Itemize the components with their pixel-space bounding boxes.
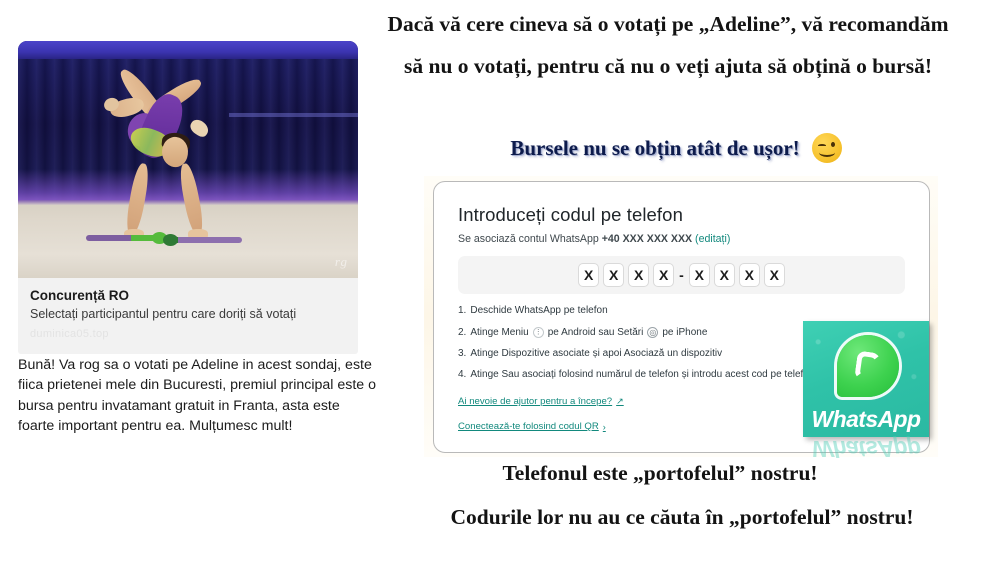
code-digit-box[interactable]: X bbox=[714, 263, 735, 287]
connect-qr-label: Conectează-te folosind codul QR bbox=[458, 421, 599, 432]
step-text: Atinge Meniu bbox=[470, 328, 528, 338]
pairing-code-field[interactable]: X X X X - X X X X bbox=[458, 256, 905, 294]
whatsapp-icon bbox=[837, 335, 899, 397]
step-text: Atinge Dispozitive asociate și apoi Asoc… bbox=[470, 349, 722, 359]
step-number: 1. bbox=[458, 306, 466, 316]
menu-dots-icon: ⋮ bbox=[533, 327, 544, 338]
gymnast-arm-left bbox=[124, 162, 151, 236]
step-text-after: pe iPhone bbox=[662, 328, 707, 338]
bottom-line-2: Codurile lor nu au ce căuta în „portofel… bbox=[372, 505, 992, 530]
emoji-winking-eye bbox=[818, 144, 826, 147]
gymnast-figure bbox=[18, 41, 358, 278]
winking-face-emoji bbox=[812, 133, 842, 163]
poster-canvas: Dacă vă cere cineva să o votați pe „Adel… bbox=[0, 0, 1000, 563]
photo-watermark: rg bbox=[335, 254, 348, 270]
step-number: 4. bbox=[458, 370, 466, 380]
headline-line-2: să nu o votați, pentru că nu o veți ajut… bbox=[336, 56, 1000, 78]
code-digit-box[interactable]: X bbox=[739, 263, 760, 287]
step-text: Atinge Sau asociați folosind numărul de … bbox=[470, 370, 814, 380]
whatsapp-logo-badge: WhatsApp bbox=[803, 321, 929, 437]
bottom-line-1: Telefonul este „portofelul” nostru! bbox=[380, 461, 940, 486]
chevron-right-icon: › bbox=[603, 422, 606, 432]
pairing-step: 1. Deschide WhatsApp pe telefon bbox=[458, 306, 905, 316]
edit-phone-link[interactable]: (editați) bbox=[695, 233, 730, 245]
link-preview-title: Concurență RO bbox=[30, 288, 346, 303]
gymnast-foot-right bbox=[188, 117, 212, 139]
step-number: 3. bbox=[458, 349, 466, 359]
need-help-link[interactable]: Ai nevoie de ajutor pentru a începe? ↗ bbox=[458, 396, 624, 407]
blue-headline-row: Bursele nu se obțin atât de ușor! bbox=[436, 133, 916, 163]
step-text-mid: pe Android sau Setări bbox=[548, 328, 644, 338]
link-preview-body[interactable]: Concurență RO Selectați participantul pe… bbox=[18, 278, 358, 354]
code-digit-box[interactable]: X bbox=[578, 263, 599, 287]
dialog-phone-number: XXX XXX XXX bbox=[620, 233, 695, 245]
code-digit-box[interactable]: X bbox=[764, 263, 785, 287]
rhythmic-club-left bbox=[86, 235, 164, 241]
gymnast-photo: rg bbox=[18, 41, 358, 278]
code-digit-box[interactable]: X bbox=[603, 263, 624, 287]
link-preview-subtitle: Selectați participantul pentru care dori… bbox=[30, 307, 346, 323]
step-text: Deschide WhatsApp pe telefon bbox=[470, 306, 607, 316]
phishing-message-card: rg Concurență RO Selectați participantul… bbox=[18, 41, 358, 354]
blue-headline-text: Bursele nu se obțin atât de ușor! bbox=[510, 136, 799, 161]
whatsapp-handset-glyph bbox=[854, 350, 882, 381]
code-digit-box[interactable]: X bbox=[628, 263, 649, 287]
rhythmic-club-right bbox=[166, 237, 242, 243]
whatsapp-wordmark: WhatsApp bbox=[803, 406, 929, 433]
code-digit-box[interactable]: X bbox=[653, 263, 674, 287]
emoji-open-eye bbox=[831, 142, 835, 147]
settings-gear-icon: ◎ bbox=[647, 327, 658, 338]
code-separator: - bbox=[678, 267, 685, 283]
step-number: 2. bbox=[458, 328, 466, 338]
dialog-title: Introduceți codul pe telefon bbox=[458, 204, 905, 226]
need-help-label: Ai nevoie de ajutor pentru a începe? bbox=[458, 396, 612, 407]
scam-chat-message: Bună! Va rog sa o votati pe Adeline in a… bbox=[18, 355, 378, 437]
dialog-subtitle: Se asociază contul WhatsApp +40 XXX XXX … bbox=[458, 233, 905, 245]
gymnast-arm-right bbox=[177, 162, 205, 236]
headline-line-1: Dacă vă cere cineva să o votați pe „Adel… bbox=[387, 12, 948, 36]
link-preview-url: duminica05.top bbox=[30, 328, 346, 340]
dialog-subtitle-prefix: Se asociază contul WhatsApp bbox=[458, 233, 602, 245]
connect-with-qr-link[interactable]: Conectează-te folosind codul QR › bbox=[458, 421, 606, 432]
code-digit-box[interactable]: X bbox=[689, 263, 710, 287]
external-link-icon: ↗ bbox=[616, 396, 624, 407]
headline-warning: Dacă vă cere cineva să o votați pe „Adel… bbox=[336, 14, 1000, 77]
emoji-smile bbox=[819, 148, 835, 157]
dialog-country-code: +40 bbox=[602, 233, 620, 245]
